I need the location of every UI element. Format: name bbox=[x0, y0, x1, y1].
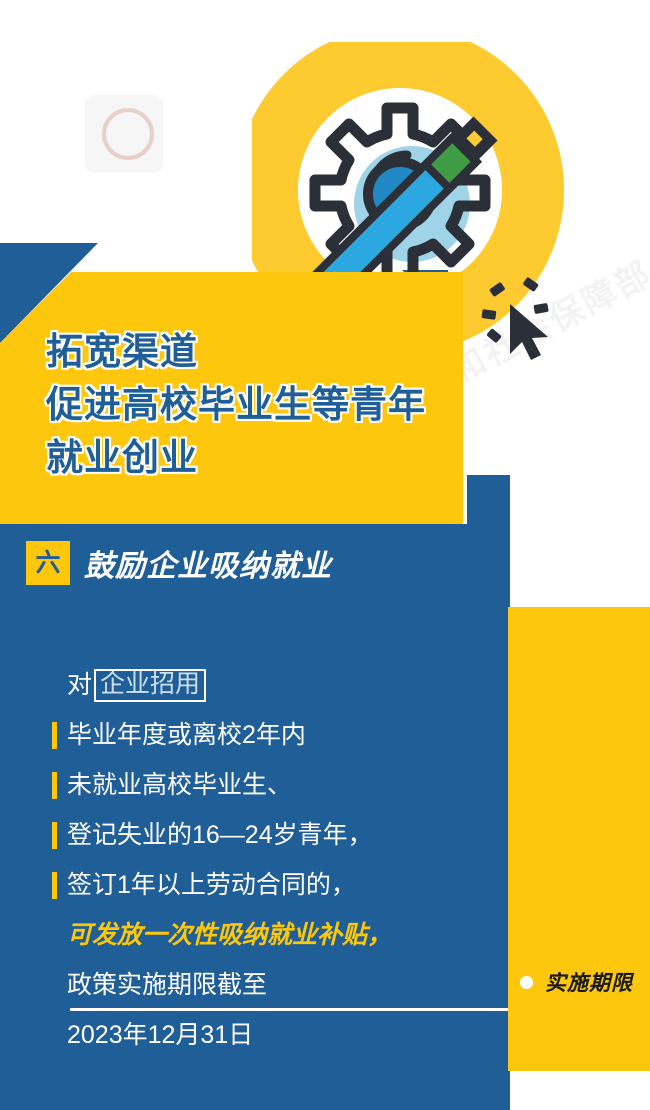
section-number-badge: 六 bbox=[26, 541, 70, 585]
watermark-badge-icon bbox=[85, 95, 163, 173]
body-line-text: 签订1年以上劳动合同的， bbox=[67, 873, 356, 898]
section-header: 六 鼓励企业吸纳就业 bbox=[26, 541, 332, 585]
body-line-text: 未就业高校毕业生、 bbox=[67, 773, 292, 798]
body-line-prefix: 对 bbox=[67, 673, 92, 698]
title-line-2: 促进高校毕业生等青年 bbox=[46, 379, 466, 432]
body-line-text: 政策实施期限截至 bbox=[67, 973, 267, 998]
body-line: 2023年12月31日 bbox=[52, 1010, 482, 1060]
body-line-text: 2023年12月31日 bbox=[67, 1023, 253, 1048]
body-line: 未就业高校毕业生、 bbox=[52, 760, 482, 810]
accent-bar bbox=[52, 772, 57, 799]
bullet-dot-icon bbox=[520, 976, 533, 989]
body-line: 政策实施期限截至 bbox=[52, 960, 482, 1010]
title-line-1: 拓宽渠道 bbox=[46, 326, 466, 379]
body-line-text-emphasис: 可发放一次性吸纳就业补贴， bbox=[67, 923, 392, 948]
body-line-text: 登记失业的16—24岁青年， bbox=[67, 823, 373, 848]
highlighted-term: 企业招用 bbox=[94, 669, 206, 702]
body-line: 签订1年以上劳动合同的， bbox=[52, 860, 482, 910]
body-line: 可发放一次性吸纳就业补贴， bbox=[52, 910, 482, 960]
body-line-text: 毕业年度或离校2年内 bbox=[67, 723, 306, 748]
section-heading: 鼓励企业吸纳就业 bbox=[84, 541, 332, 585]
page-title: 拓宽渠道 促进高校毕业生等青年 就业创业 bbox=[46, 326, 466, 485]
body-copy: 对企业招用 毕业年度或离校2年内 未就业高校毕业生、 登记失业的16—24岁青年… bbox=[52, 660, 482, 1060]
poster-canvas: 人力资源和社会保障部 人力资源和社会保障部 人力资源和社会保障部 bbox=[0, 0, 650, 1110]
accent-bar bbox=[52, 822, 57, 849]
callout-text: 实施期限 bbox=[545, 967, 633, 997]
divider-rule bbox=[70, 1008, 510, 1011]
body-line: 毕业年度或离校2年内 bbox=[52, 710, 482, 760]
accent-bar bbox=[52, 722, 57, 749]
body-line: 登记失业的16—24岁青年， bbox=[52, 810, 482, 860]
callout-label: 实施期限 bbox=[520, 967, 633, 997]
accent-bar bbox=[52, 872, 57, 899]
body-line: 对企业招用 bbox=[52, 660, 482, 710]
callout-panel bbox=[508, 607, 650, 1071]
title-line-3: 就业创业 bbox=[46, 432, 466, 485]
